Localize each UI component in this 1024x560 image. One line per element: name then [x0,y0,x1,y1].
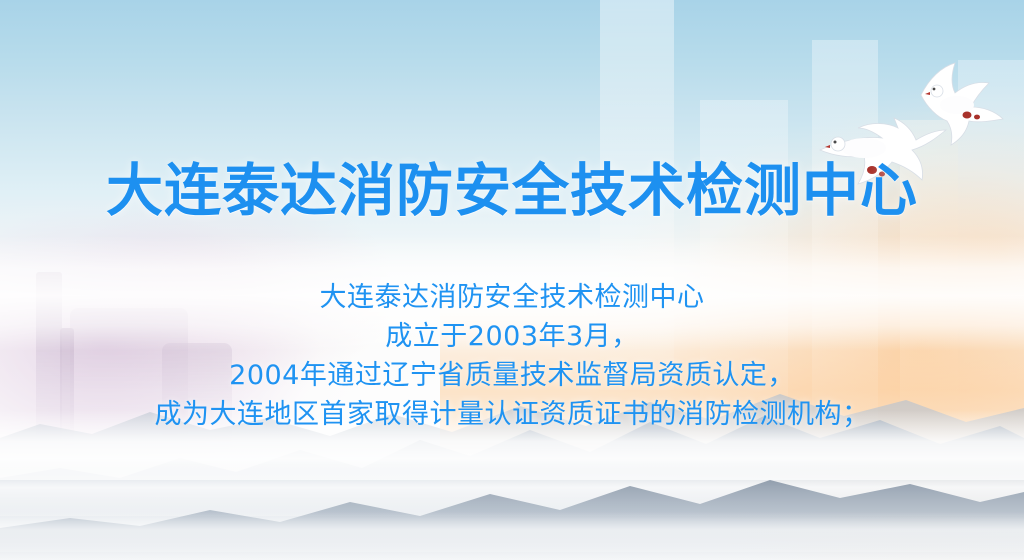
intro-line-2: 成立于2003年3月， [0,317,1024,356]
flying-dove-right-icon [905,55,1024,150]
intro-line-4: 成为大连地区首家取得计量认证资质证书的消防检测机构； [0,395,1024,434]
page-title: 大连泰达消防安全技术检测中心 [0,160,1024,222]
banner-canvas: 大连泰达消防安全技术检测中心 大连泰达消防安全技术检测中心 成立于2003年3月… [0,0,1024,560]
intro-paragraph: 大连泰达消防安全技术检测中心 成立于2003年3月， 2004年通过辽宁省质量技… [0,278,1024,434]
intro-line-3: 2004年通过辽宁省质量技术监督局资质认定， [0,356,1024,395]
intro-line-1: 大连泰达消防安全技术检测中心 [0,278,1024,317]
